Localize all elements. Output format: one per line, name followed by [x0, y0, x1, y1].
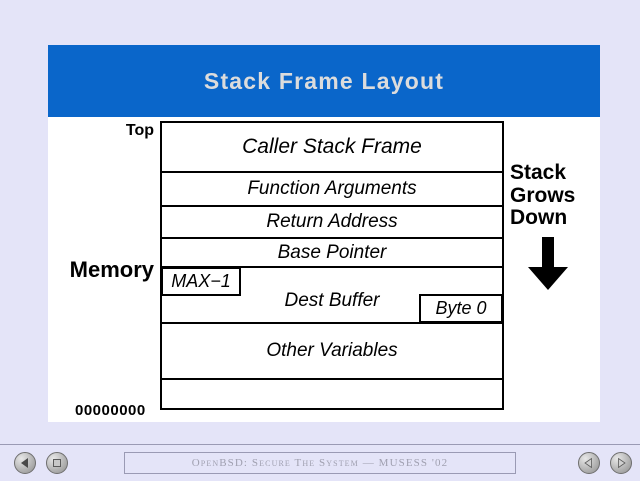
stack-grows-line-1: Stack — [510, 162, 602, 185]
label-bottom-address: 00000000 — [75, 402, 146, 419]
stack-row-return-address: Return Address — [162, 207, 502, 239]
stack-grows-down-note: Stack Grows Down — [510, 162, 602, 296]
stack-row-label: Base Pointer — [278, 242, 387, 264]
stack-grows-line-2: Grows — [510, 185, 602, 208]
label-memory: Memory — [48, 257, 154, 283]
byte-zero-box: Byte 0 — [419, 294, 503, 323]
back-button[interactable] — [14, 452, 36, 474]
footer-title: OpenBSD: Secure The System — MUSESS '02 — [192, 457, 448, 469]
stack-row-label: Caller Stack Frame — [242, 135, 422, 159]
stop-icon — [51, 457, 63, 469]
stack-row-other-variables: Other Variables — [162, 324, 502, 380]
slide-title-bar: Stack Frame Layout — [48, 45, 600, 117]
stack-row-label: Other Variables — [266, 340, 397, 362]
max-index-box: MAX−1 — [161, 267, 241, 296]
back-icon — [19, 457, 31, 469]
down-arrow-icon — [526, 237, 570, 291]
stack-row-label: Function Arguments — [247, 178, 416, 200]
stack-table: Caller Stack Frame Function Arguments Re… — [160, 121, 504, 410]
stack-grows-line-3: Down — [510, 207, 602, 230]
byte-zero-label: Byte 0 — [435, 298, 486, 319]
stop-button[interactable] — [46, 452, 68, 474]
slide-root: Stack Frame Layout Top Memory 00000000 C… — [0, 0, 640, 444]
previous-button[interactable] — [578, 452, 600, 474]
stack-row-base-pointer: Base Pointer — [162, 239, 502, 268]
footer-bar: OpenBSD: Secure The System — MUSESS '02 — [0, 444, 640, 481]
label-top-of-memory: Top — [108, 122, 154, 140]
chevron-right-icon — [615, 457, 627, 469]
page-title: Stack Frame Layout — [204, 68, 444, 95]
stack-row-empty — [162, 380, 502, 410]
stack-row-dest-buffer: MAX−1 Dest Buffer Byte 0 — [162, 268, 502, 324]
footer-title-box: OpenBSD: Secure The System — MUSESS '02 — [124, 452, 516, 474]
next-button[interactable] — [610, 452, 632, 474]
stack-frame-diagram: Top Memory 00000000 Caller Stack Frame F… — [48, 117, 600, 422]
stack-row-label: Return Address — [266, 211, 397, 233]
chevron-left-icon — [583, 457, 595, 469]
max-index-label: MAX−1 — [171, 271, 231, 292]
stack-row-function-arguments: Function Arguments — [162, 173, 502, 207]
stack-row-caller-stack-frame: Caller Stack Frame — [162, 123, 502, 173]
